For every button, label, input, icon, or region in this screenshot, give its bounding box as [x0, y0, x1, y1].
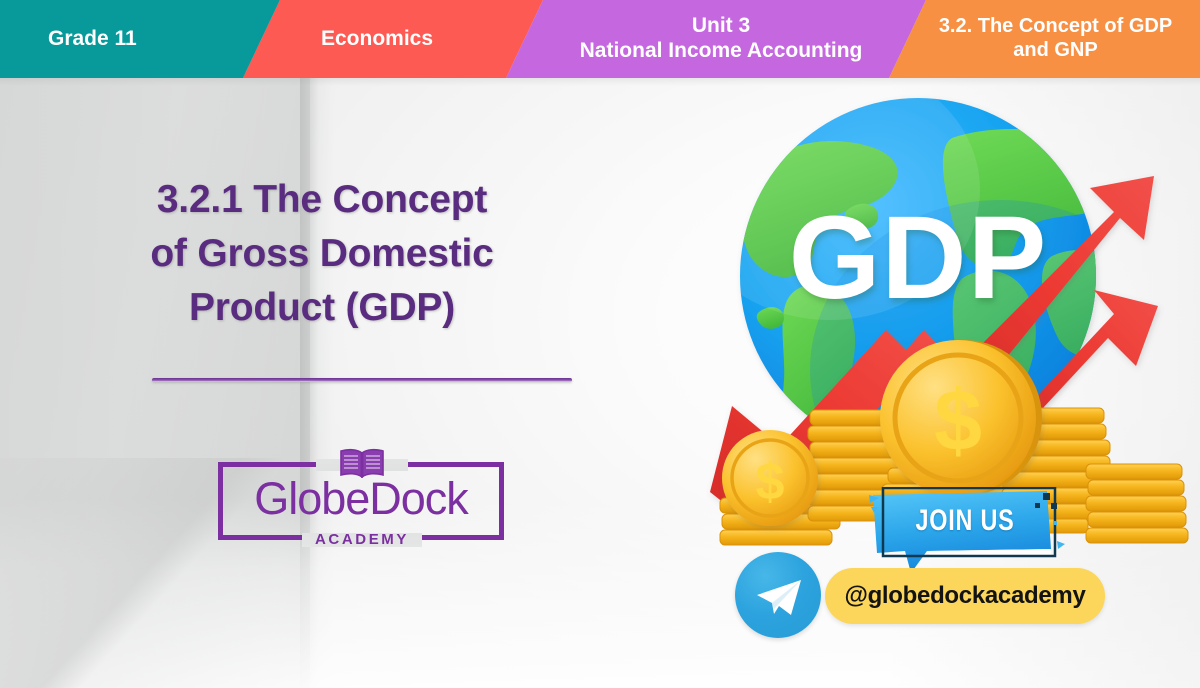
logo-subtitle: ACADEMY	[302, 532, 422, 548]
header-unit-line1: Unit 3	[692, 14, 750, 37]
header-segment-grade[interactable]: Grade 11	[0, 0, 280, 78]
page-title-line3: Product (GDP)	[52, 281, 592, 335]
globe-gdp-text: GDP	[789, 192, 1048, 324]
header-segment-topic[interactable]: 3.2. The Concept of GDP and GNP	[889, 0, 1200, 78]
coin-small: $	[722, 430, 818, 526]
title-divider	[152, 378, 572, 382]
telegram-cta-row[interactable]: @globedockacademy	[735, 548, 1125, 648]
telegram-icon[interactable]	[735, 552, 821, 638]
header-unit-line2: National Income Accounting	[580, 39, 863, 62]
telegram-handle-text: @globedockacademy	[844, 582, 1085, 610]
coin-large-symbol: $	[934, 373, 982, 469]
coin-small-symbol: $	[756, 453, 785, 511]
paper-plane-icon	[755, 578, 803, 618]
globe-graphic: GDP	[700, 80, 1200, 550]
telegram-handle-pill[interactable]: @globedockacademy	[825, 568, 1105, 624]
header-segment-subject[interactable]: Economics	[243, 0, 543, 78]
page-title: 3.2.1 The Concept of Gross Domestic Prod…	[52, 173, 592, 334]
header-topic-line2: and GNP	[1013, 39, 1097, 61]
logo-wordmark: GlobeDock	[218, 472, 504, 526]
header-unit-label: Unit 3 National Income Accounting	[574, 14, 869, 64]
slide-root: Grade 11 Economics Unit 3 National Incom…	[0, 0, 1200, 688]
header-segment-unit[interactable]: Unit 3 National Income Accounting	[506, 0, 926, 78]
header-grade-label: Grade 11	[42, 27, 143, 52]
open-book-icon	[338, 448, 386, 478]
header-topic-label: 3.2. The Concept of GDP and GNP	[933, 15, 1178, 62]
coin-large: $	[880, 340, 1042, 496]
header-subject-label: Economics	[315, 27, 439, 52]
page-title-line1: 3.2.1 The Concept	[52, 173, 592, 227]
header-topic-line1: 3.2. The Concept of GDP	[939, 15, 1172, 37]
page-title-line2: of Gross Domestic	[52, 227, 592, 281]
left-content-column: 3.2.1 The Concept of Gross Domestic Prod…	[0, 78, 640, 688]
globedock-logo[interactable]: GlobeDock ACADEMY	[218, 448, 504, 540]
join-us-label: JOIN US	[887, 500, 1043, 542]
header-ribbon: Grade 11 Economics Unit 3 National Incom…	[0, 0, 1200, 78]
